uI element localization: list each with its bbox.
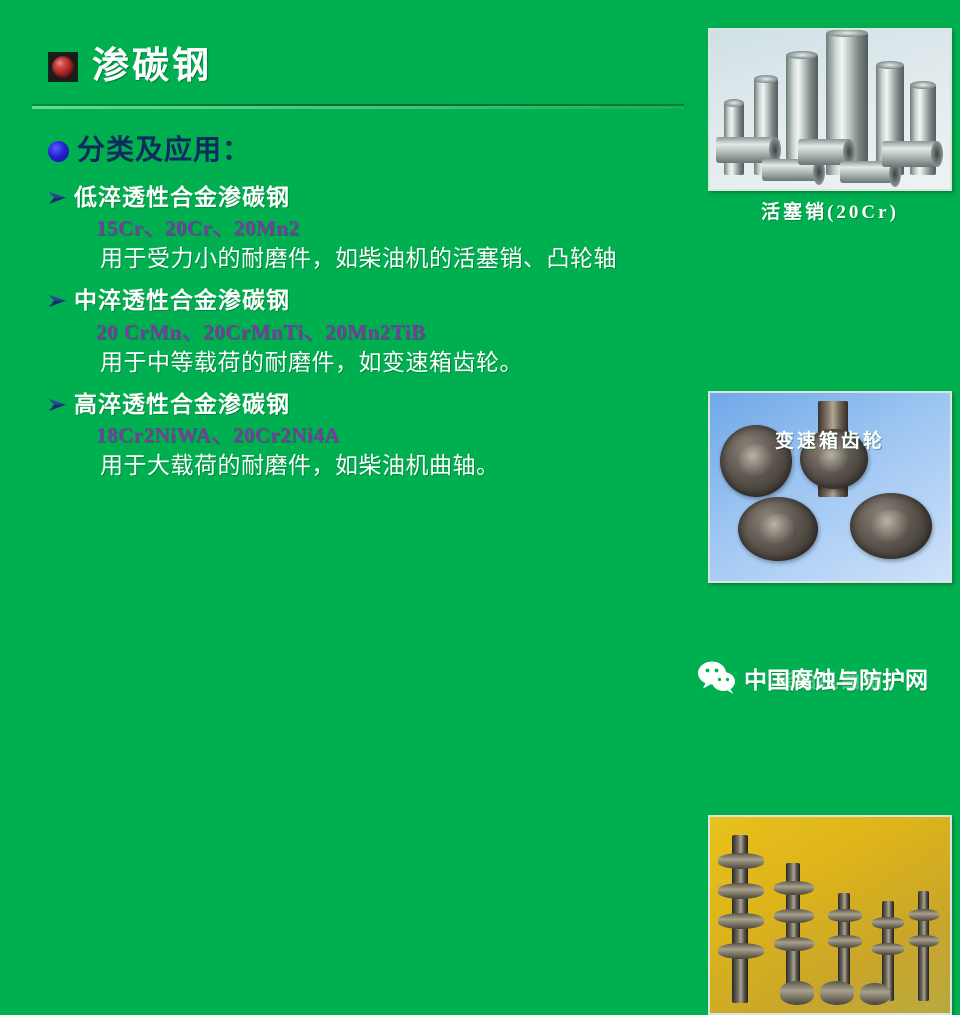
- slide-canvas: 渗碳钢 分类及应用： 低淬透性合金渗碳钢 15Cr、20Cr、20Mn2 用于受…: [0, 0, 960, 720]
- group-heading-label: 中淬透性合金渗碳钢: [74, 288, 290, 314]
- red-orb-square-icon: [48, 52, 78, 82]
- group-heading-label: 高淬透性合金渗碳钢: [74, 392, 290, 418]
- gearbox-gears-photo: [708, 391, 952, 583]
- group-codes: 15Cr、20Cr、20Mn2: [96, 215, 698, 241]
- red-orb-icon-inner: [52, 56, 74, 78]
- title-divider-light: [32, 106, 684, 109]
- section-heading: 分类及应用：: [48, 136, 698, 167]
- section-heading-label: 分类及应用：: [77, 136, 251, 167]
- gearbox-gears-caption: 变速箱齿轮: [708, 426, 952, 453]
- group-codes: 20 CrMn、20CrMnTi、20Mn2TiB: [96, 319, 698, 345]
- group-heading-row: 低淬透性合金渗碳钢: [48, 185, 698, 211]
- group-description: 用于大载荷的耐磨件，如柴油机曲轴。: [100, 452, 698, 481]
- page-title: 渗碳钢: [92, 48, 212, 85]
- wechat-icon: [697, 661, 737, 695]
- group-low-hardenability: 低淬透性合金渗碳钢 15Cr、20Cr、20Mn2 用于受力小的耐磨件，如柴油机…: [48, 185, 698, 274]
- piston-pins-caption: 活塞销(20Cr): [708, 197, 952, 224]
- blue-dot-icon: [48, 141, 69, 162]
- arrow-bullet-icon: [48, 396, 68, 414]
- piston-pins-photo: [708, 28, 952, 191]
- arrow-bullet-icon: [48, 189, 68, 207]
- crankshafts-photo: [708, 815, 952, 1015]
- arrow-bullet-icon: [48, 292, 68, 310]
- group-heading-row: 中淬透性合金渗碳钢: [48, 288, 698, 314]
- group-codes: 18Cr2NiWA、20Cr2Ni4A: [96, 422, 698, 448]
- slide-title-row: 渗碳钢: [48, 48, 212, 85]
- watermark-label: 中国腐蚀与防护网: [744, 661, 928, 695]
- watermark: 中国腐蚀与防护网: [697, 661, 928, 695]
- group-description: 用于受力小的耐磨件，如柴油机的活塞销、凸轮轴: [100, 245, 698, 274]
- group-medium-hardenability: 中淬透性合金渗碳钢 20 CrMn、20CrMnTi、20Mn2TiB 用于中等…: [48, 288, 698, 377]
- group-description: 用于中等载荷的耐磨件，如变速箱齿轮。: [100, 349, 698, 378]
- group-heading-row: 高淬透性合金渗碳钢: [48, 392, 698, 418]
- group-heading-label: 低淬透性合金渗碳钢: [74, 185, 290, 211]
- group-high-hardenability: 高淬透性合金渗碳钢 18Cr2NiWA、20Cr2Ni4A 用于大载荷的耐磨件，…: [48, 392, 698, 481]
- title-divider: [32, 104, 684, 110]
- content-body: 分类及应用： 低淬透性合金渗碳钢 15Cr、20Cr、20Mn2 用于受力小的耐…: [48, 136, 698, 487]
